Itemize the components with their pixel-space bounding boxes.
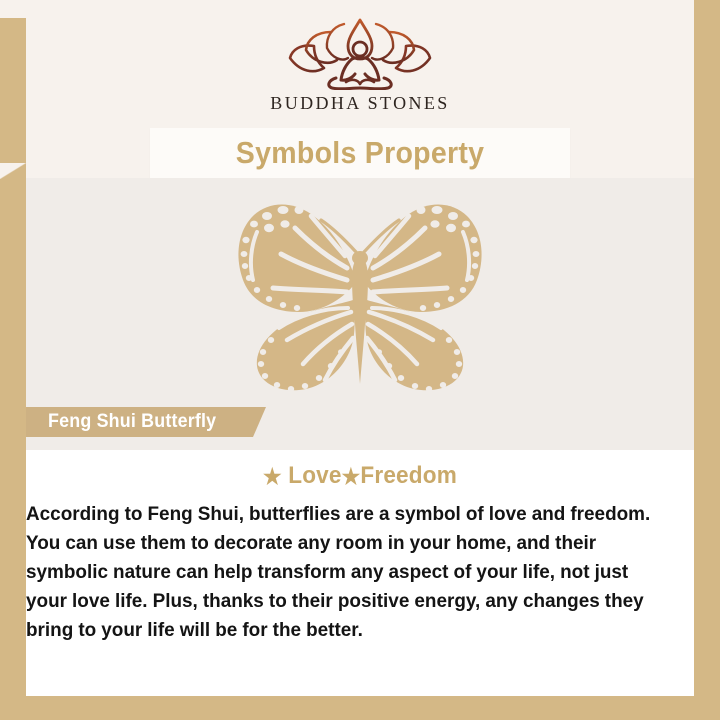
star-icon-left: ★ xyxy=(263,464,282,489)
title-banner: Symbols Property xyxy=(150,128,570,178)
subtitle-word-freedom: Freedom xyxy=(360,462,457,489)
feng-shui-butterfly-tag: Feng Shui Butterfly xyxy=(26,407,253,437)
frame-left-chamfer xyxy=(0,163,26,179)
brand-logo: BUDDHA STONES xyxy=(26,18,694,128)
page-title: Symbols Property xyxy=(236,135,485,171)
description-panel: ★ Love★Freedom According to Feng Shui, b… xyxy=(26,450,694,696)
tag-label: Feng Shui Butterfly xyxy=(48,411,216,433)
page-root: BUDDHA STONES Symbols Property xyxy=(0,0,720,720)
body-paragraph: According to Feng Shui, butterflies are … xyxy=(26,500,682,645)
butterfly-icon xyxy=(195,200,525,396)
frame-right-border xyxy=(694,0,720,720)
frame-bottom-border xyxy=(0,696,720,720)
lotus-meditation-icon xyxy=(284,18,436,90)
section-subtitle: ★ Love★Freedom xyxy=(46,462,674,490)
star-icon-mid: ★ xyxy=(342,464,361,489)
brand-name: BUDDHA STONES xyxy=(270,93,449,114)
subtitle-word-love: Love xyxy=(288,462,341,489)
frame-left-border xyxy=(0,175,26,720)
